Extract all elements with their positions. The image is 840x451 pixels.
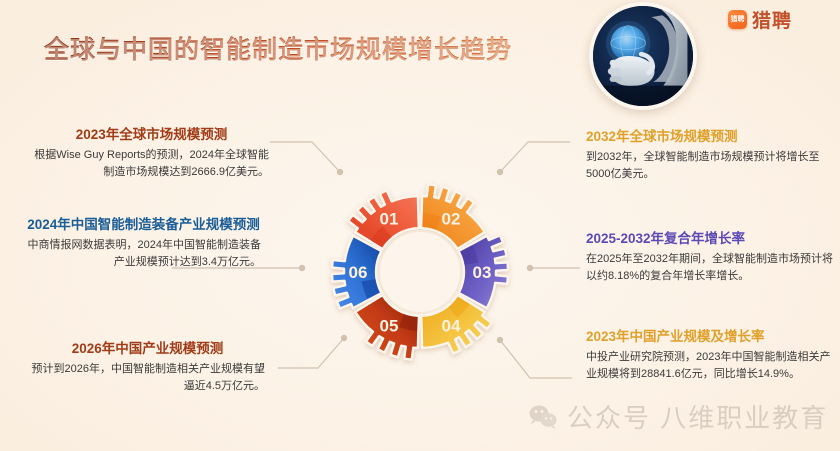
info-block-body: 预计到2026年，中国智能制造相关产业规模有望逼近4.5万亿元。 bbox=[30, 361, 265, 394]
watermark: 公众号 八维职业教育 bbox=[528, 398, 828, 435]
gear-segment-number-04: 04 bbox=[442, 317, 461, 336]
info-block-heading: 2023年全球市场规模预测 bbox=[34, 126, 269, 144]
gear-wheel-diagram: 010203040506 bbox=[316, 168, 524, 376]
info-block-body: 到2032年，全球智能制造市场规模预计将增长至5000亿美元。 bbox=[586, 149, 834, 182]
info-block-right-1: 2032年全球市场规模预测 到2032年，全球智能制造市场规模预计将增长至500… bbox=[586, 128, 834, 182]
hero-robot-photo bbox=[589, 2, 697, 110]
gear-segment-number-05: 05 bbox=[380, 317, 399, 336]
info-block-heading: 2032年全球市场规模预测 bbox=[586, 128, 834, 146]
info-block-body: 中投产业研究院预测，2023年中国智能制造相关产业规模将到28841.6亿元，同… bbox=[586, 349, 834, 382]
page-title: 全球与中国的智能制造市场规模增长趋势 bbox=[44, 30, 512, 66]
info-block-right-3: 2023年中国产业规模及增长率 中投产业研究院预测，2023年中国智能制造相关产… bbox=[586, 328, 834, 382]
info-block-body: 中商情报网数据表明，2024年中国智能制造装备产业规模预计达到3.4万亿元。 bbox=[26, 237, 261, 270]
info-block-right-2: 2025-2032年复合年增长率 在2025年至2032年期间，全球智能制造市场… bbox=[586, 230, 834, 284]
liepin-logo-icon: 猎聘 bbox=[728, 10, 747, 29]
info-block-body: 在2025年至2032年期间，全球智能制造市场预计将以约8.18%的复合年增长率… bbox=[586, 251, 834, 284]
wechat-icon bbox=[528, 404, 558, 430]
gear-segment-number-01: 01 bbox=[380, 209, 399, 228]
info-block-heading: 2026年中国产业规模预测 bbox=[30, 340, 265, 358]
info-block-left-1: 2023年全球市场规模预测 根据Wise Guy Reports的预测，2024… bbox=[34, 126, 269, 180]
info-block-left-3: 2026年中国产业规模预测 预计到2026年，中国智能制造相关产业规模有望逼近4… bbox=[30, 340, 265, 394]
infographic-page: 全球与中国的智能制造市场规模增长趋势 bbox=[0, 0, 840, 451]
info-block-heading: 2023年中国产业规模及增长率 bbox=[586, 328, 834, 346]
brand-logo: 猎聘 猎聘 bbox=[728, 6, 792, 33]
info-block-body: 根据Wise Guy Reports的预测，2024年全球智能制造市场规模达到2… bbox=[34, 147, 269, 180]
gear-segment-number-02: 02 bbox=[442, 209, 461, 228]
brand-name: 猎聘 bbox=[752, 6, 792, 33]
gear-segment-number-06: 06 bbox=[349, 263, 368, 282]
info-block-left-2: 2024年中国智能制造装备产业规模预测 中商情报网数据表明，2024年中国智能制… bbox=[26, 216, 261, 270]
info-block-heading: 2025-2032年复合年增长率 bbox=[586, 230, 834, 248]
info-block-heading: 2024年中国智能制造装备产业规模预测 bbox=[26, 216, 261, 234]
watermark-text: 公众号 八维职业教育 bbox=[567, 398, 828, 435]
gear-segment-number-03: 03 bbox=[473, 263, 492, 282]
